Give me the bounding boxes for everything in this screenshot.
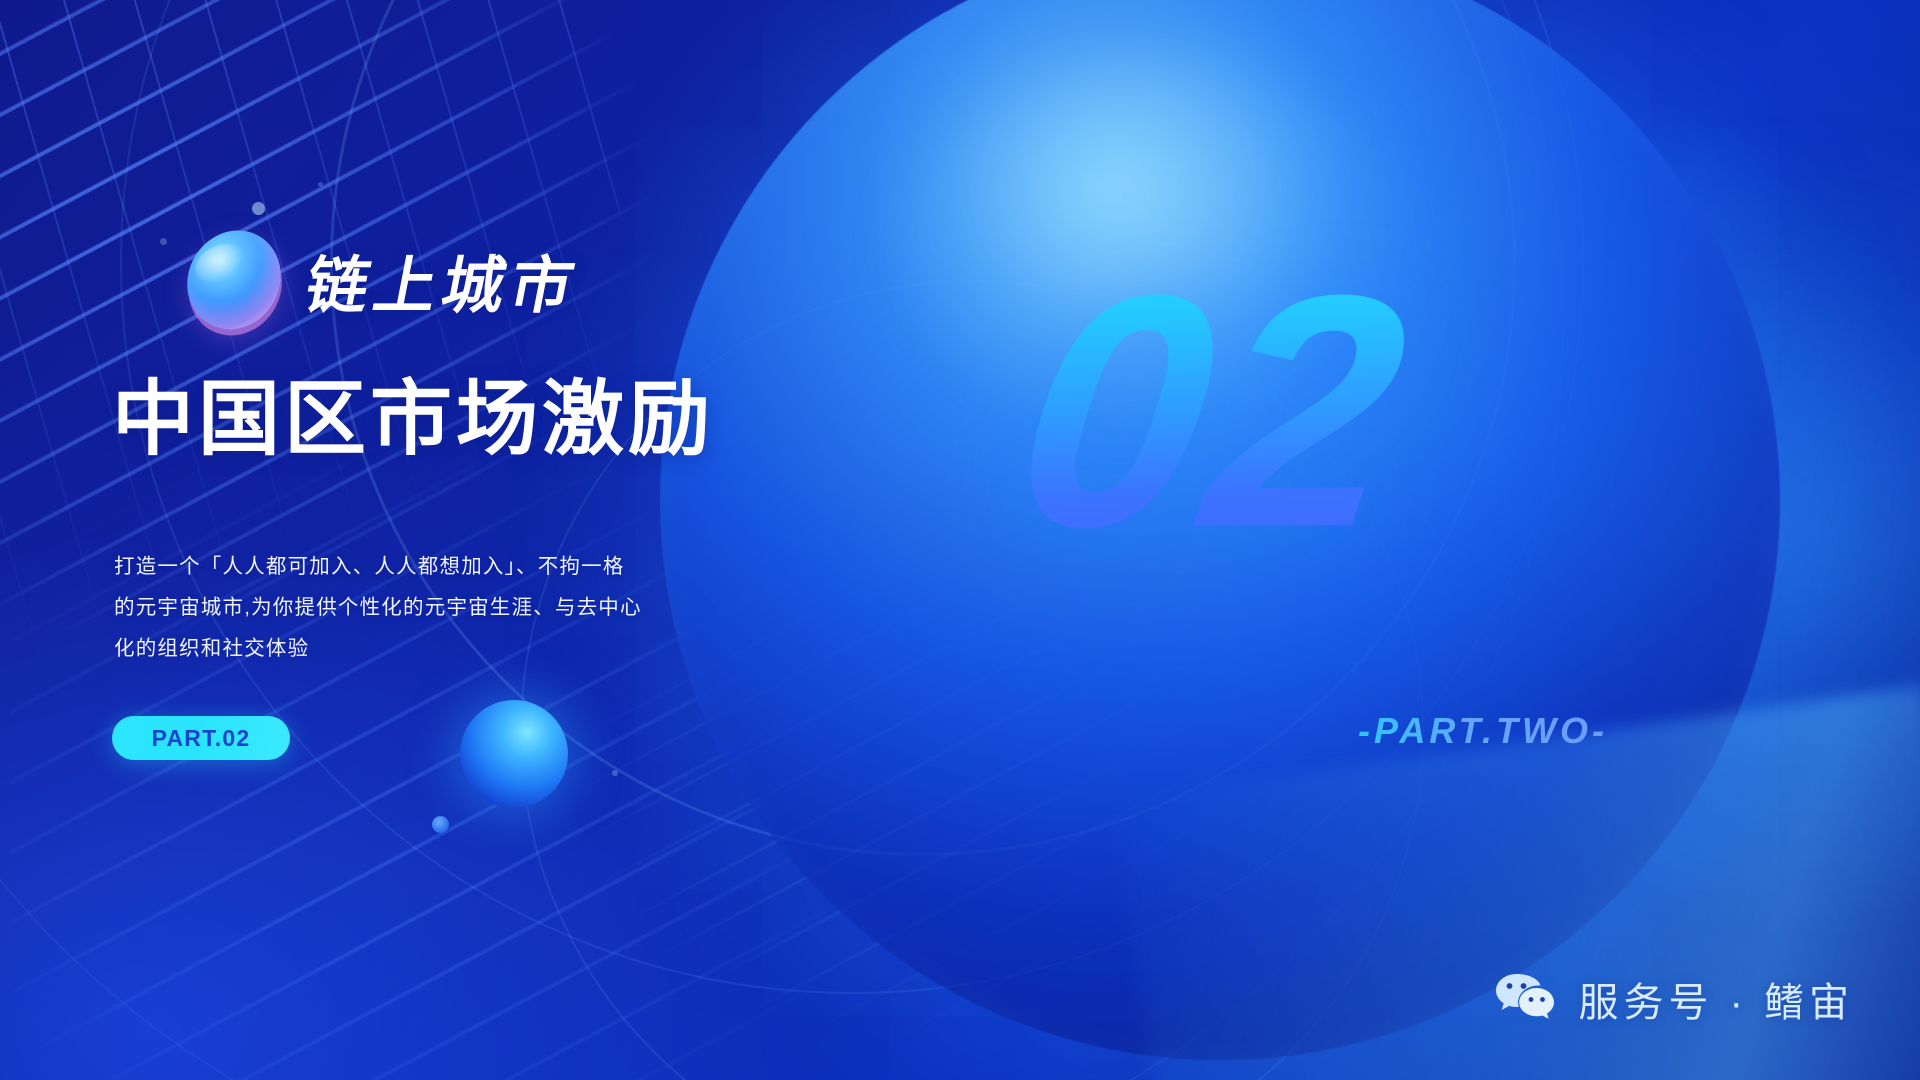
spark-decoration-2 [160, 238, 167, 245]
description-text: 打造一个「人人都可加入、人人都想加入」、不拘一格 的元宇宙城市,为你提供个性化的… [114, 546, 674, 669]
spark-decoration-3 [318, 182, 323, 187]
small-sphere-icon [460, 700, 568, 808]
kicker-title: 链上城市 [299, 235, 589, 325]
wechat-icon [1494, 972, 1556, 1027]
presentation-slide: 链上城市 中国区市场激励 打造一个「人人都可加入、人人都想加入」、不拘一格 的元… [0, 0, 1920, 1080]
spark-decoration-4 [612, 770, 618, 776]
small-dot-decoration [432, 816, 449, 833]
kicker-row: 链上城市 [186, 232, 580, 328]
description-line-3: 化的组织和社交体验 [114, 628, 674, 669]
section-caption: -PART.TWO- [1358, 710, 1608, 752]
part-badge-label: PART.02 [152, 725, 251, 752]
spark-decoration-1 [252, 202, 265, 215]
wechat-account-label: 服务号 · 鳍宙 [1578, 970, 1854, 1028]
section-number: 02 [1002, 246, 1427, 576]
wechat-footer: 服务号 · 鳍宙 [1494, 970, 1854, 1028]
page-title: 中国区市场激励 [112, 352, 714, 471]
part-badge[interactable]: PART.02 [112, 716, 290, 760]
description-line-1: 打造一个「人人都可加入、人人都想加入」、不拘一格 [114, 546, 674, 587]
coin-disc-icon [178, 218, 289, 342]
description-line-2: 的元宇宙城市,为你提供个性化的元宇宙生涯、与去中心 [114, 587, 674, 628]
